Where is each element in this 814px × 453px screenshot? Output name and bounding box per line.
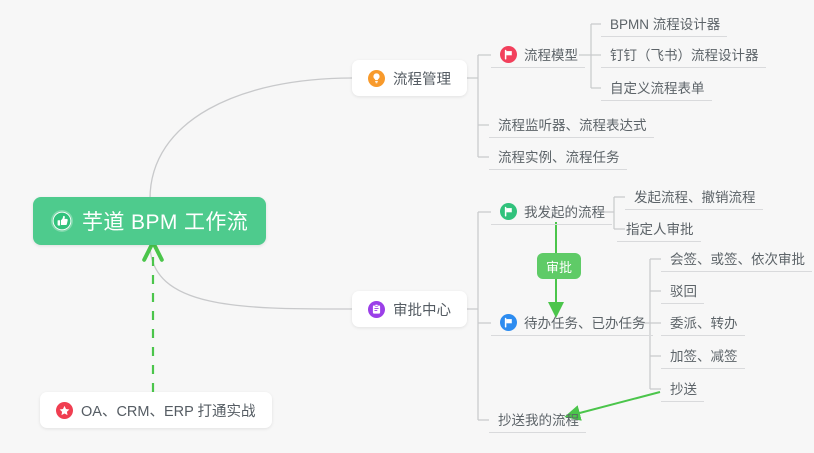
flag-icon bbox=[500, 203, 517, 220]
arrow-tag-approval[interactable]: 审批 bbox=[537, 253, 581, 279]
thumbs-up-icon bbox=[51, 210, 73, 232]
flag-icon bbox=[500, 314, 517, 331]
root-label: 芋道 BPM 工作流 bbox=[82, 206, 248, 236]
floating-node-label: OA、CRM、ERP 打通实战 bbox=[81, 400, 256, 421]
leaf-cc[interactable]: 抄送 bbox=[661, 375, 704, 402]
node-label: 我发起的流程 bbox=[524, 201, 605, 221]
leaf-label: 发起流程、撤销流程 bbox=[634, 186, 756, 206]
link-root-to-process-management bbox=[150, 78, 352, 199]
leaf-designated-approver[interactable]: 指定人审批 bbox=[617, 215, 701, 242]
tag-label: 审批 bbox=[546, 257, 572, 276]
branch-label: 审批中心 bbox=[393, 299, 451, 320]
node-todo-done-tasks[interactable]: 待办任务、已办任务 bbox=[491, 309, 653, 336]
clipboard-icon bbox=[368, 301, 385, 318]
leaf-bpmn-designer[interactable]: BPMN 流程设计器 bbox=[601, 10, 727, 37]
root-node[interactable]: 芋道 BPM 工作流 bbox=[33, 197, 266, 245]
leaf-label: 流程监听器、流程表达式 bbox=[498, 114, 647, 134]
star-icon bbox=[56, 402, 73, 419]
node-label: 流程模型 bbox=[524, 44, 578, 64]
leaf-label: 加签、减签 bbox=[670, 345, 738, 365]
branch-approval-center[interactable]: 审批中心 bbox=[352, 291, 467, 327]
leaf-custom-form[interactable]: 自定义流程表单 bbox=[601, 74, 712, 101]
leaf-label: 驳回 bbox=[670, 280, 697, 300]
leaf-reject[interactable]: 驳回 bbox=[661, 277, 704, 304]
leaf-label: 自定义流程表单 bbox=[610, 77, 705, 97]
leaf-countersign[interactable]: 会签、或签、依次审批 bbox=[661, 245, 812, 272]
node-label: 待办任务、已办任务 bbox=[524, 312, 646, 332]
leaf-label: 流程实例、流程任务 bbox=[498, 146, 620, 166]
leaf-label: 抄送 bbox=[670, 378, 697, 398]
leaf-add-remove-sign[interactable]: 加签、减签 bbox=[661, 342, 745, 369]
leaf-cc-to-me[interactable]: 抄送我的流程 bbox=[489, 406, 586, 433]
mindmap-canvas: 芋道 BPM 工作流 流程管理 流程模型 BPMN 流程设计器 钉钉（飞书 bbox=[0, 0, 814, 453]
leaf-process-listener[interactable]: 流程监听器、流程表达式 bbox=[489, 111, 654, 138]
leaf-label: 抄送我的流程 bbox=[498, 409, 579, 429]
flag-icon bbox=[500, 46, 517, 63]
leaf-label: BPMN 流程设计器 bbox=[610, 13, 720, 33]
leaf-label: 会签、或签、依次审批 bbox=[670, 248, 805, 268]
branch-label: 流程管理 bbox=[393, 68, 451, 89]
lightbulb-icon bbox=[368, 70, 385, 87]
floating-node-integration[interactable]: OA、CRM、ERP 打通实战 bbox=[40, 392, 272, 428]
leaf-delegate-transfer[interactable]: 委派、转办 bbox=[661, 309, 745, 336]
leaf-start-cancel-process[interactable]: 发起流程、撤销流程 bbox=[625, 183, 763, 210]
leaf-dingtalk-designer[interactable]: 钉钉（飞书）流程设计器 bbox=[601, 41, 766, 68]
link-root-to-approval-center bbox=[150, 244, 352, 309]
branch-process-management[interactable]: 流程管理 bbox=[352, 60, 467, 96]
leaf-process-instance[interactable]: 流程实例、流程任务 bbox=[489, 143, 627, 170]
node-process-model[interactable]: 流程模型 bbox=[491, 41, 585, 68]
node-my-initiated[interactable]: 我发起的流程 bbox=[491, 198, 612, 225]
leaf-label: 委派、转办 bbox=[670, 312, 738, 332]
leaf-label: 钉钉（飞书）流程设计器 bbox=[610, 44, 759, 64]
leaf-label: 指定人审批 bbox=[626, 218, 694, 238]
